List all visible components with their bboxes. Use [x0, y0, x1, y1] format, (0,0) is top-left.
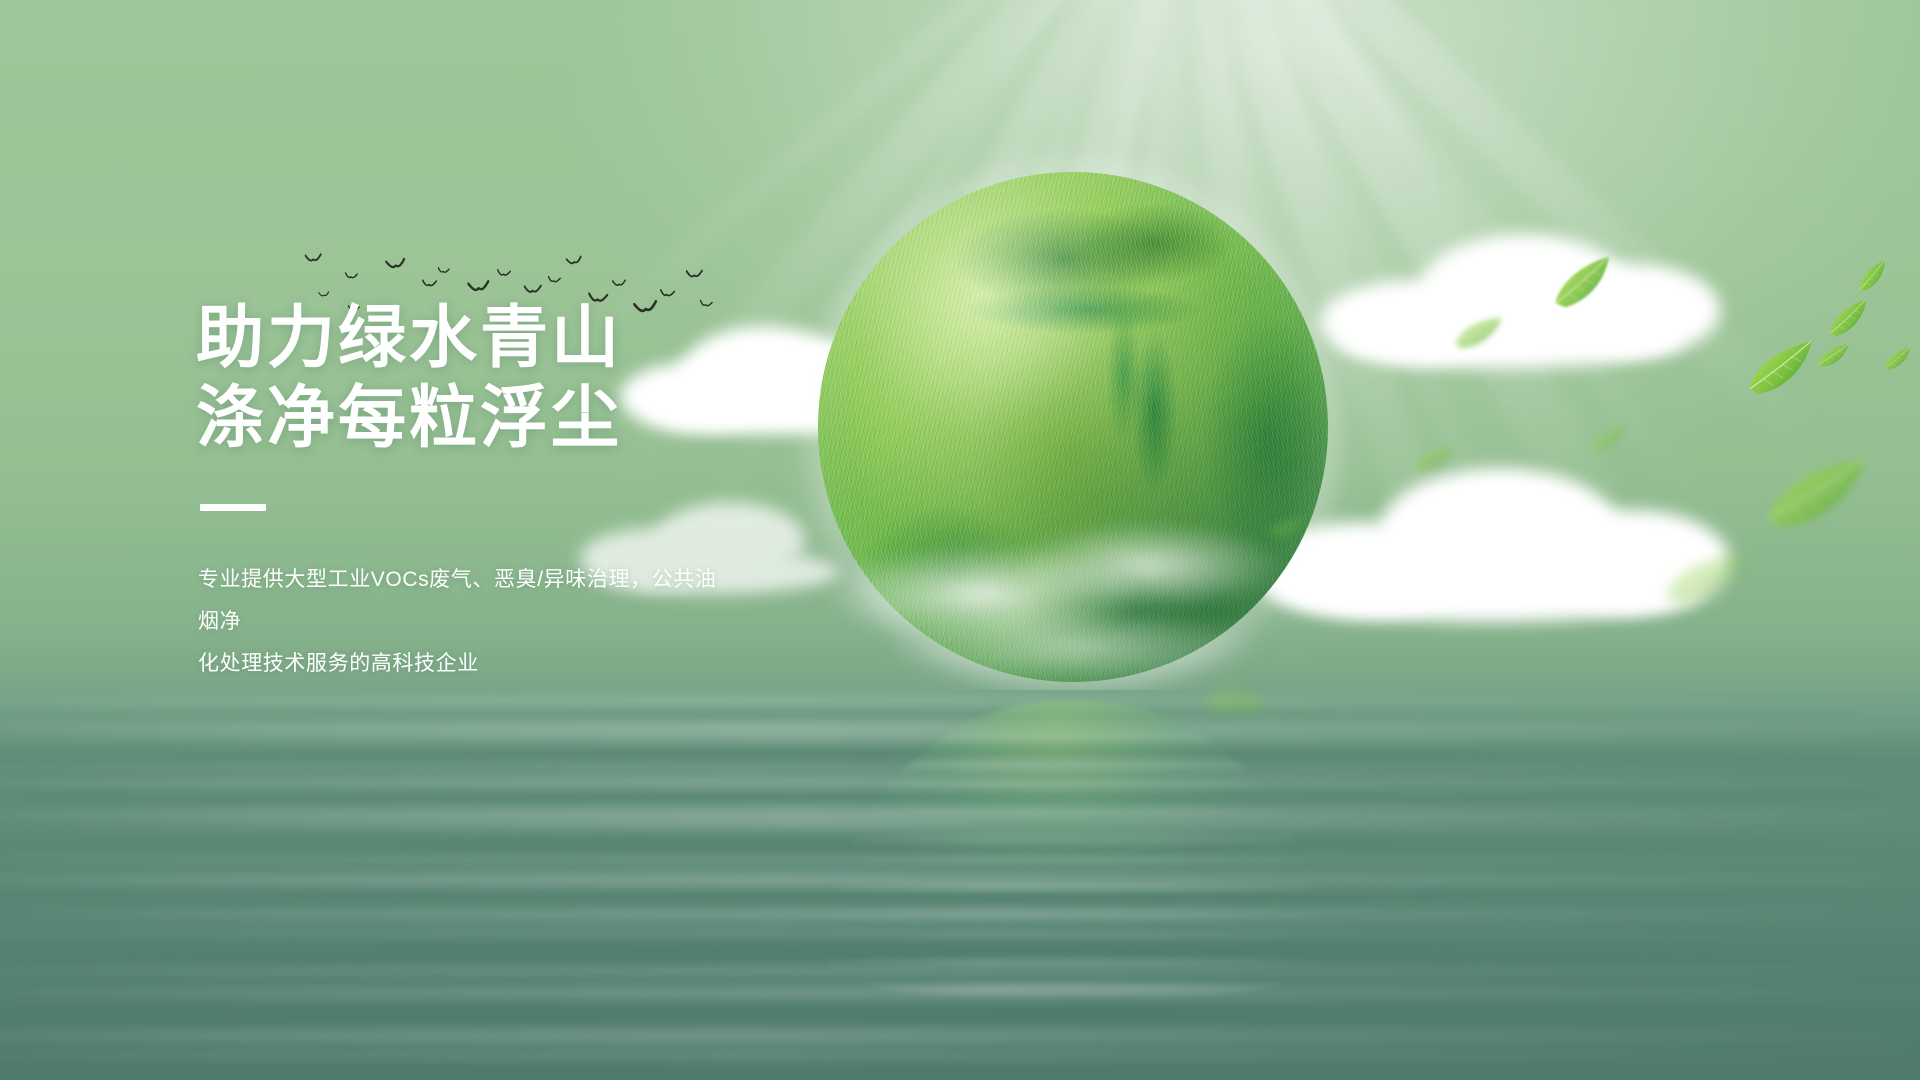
water-ripple [0, 1050, 1920, 1060]
reflection-ripple [826, 808, 1322, 816]
headline-line-1: 助力绿水青山 [196, 298, 896, 378]
reflection-ripple [826, 908, 1322, 920]
reflection-ripple [826, 883, 1322, 891]
reflection-ripple [826, 708, 1322, 712]
description-line-1: 专业提供大型工业VOCs废气、恶臭/异味治理，公共油烟净 [198, 559, 738, 643]
water-ripple [0, 1008, 1920, 1017]
reflection-ripple [826, 733, 1322, 741]
page-title: 助力绿水青山 涤净每粒浮尘 [196, 298, 896, 458]
reflection-ripple [826, 833, 1322, 845]
hero-copy: 助力绿水青山 涤净每粒浮尘 专业提供大型工业VOCs废气、恶臭/异味治理，公共油… [196, 298, 896, 685]
reflection-ripple [826, 783, 1322, 787]
hero-banner: 助力绿水青山 涤净每粒浮尘 专业提供大型工业VOCs废气、恶臭/异味治理，公共油… [0, 0, 1920, 1080]
reflection-ripple [826, 958, 1322, 966]
reflection-ripple [826, 983, 1322, 995]
reflection-ripple [826, 933, 1322, 937]
hero-description: 专业提供大型工业VOCs废气、恶臭/异味治理，公共油烟净 化处理技术服务的高科技… [198, 559, 738, 685]
description-line-2: 化处理技术服务的高科技企业 [198, 643, 738, 685]
headline-line-2: 涤净每粒浮尘 [196, 378, 896, 458]
water-ripple [0, 1028, 1920, 1044]
reflection-ripple [826, 758, 1322, 770]
reflection-ripple [826, 858, 1322, 862]
water-ripple [0, 696, 1920, 706]
title-divider [200, 504, 266, 511]
